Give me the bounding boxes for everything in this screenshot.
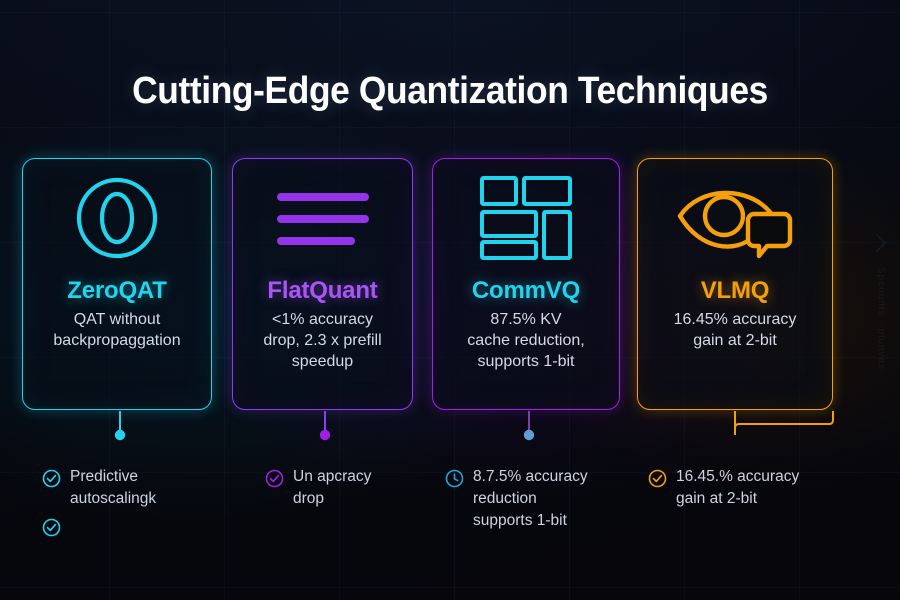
edge-watermark: Spcounts · plunvas (868, 232, 894, 397)
checklist-item-predictive[interactable]: Predictive autoscalingk (42, 466, 217, 510)
connector-node-zeroqat (115, 430, 125, 440)
connector-node-flatquant (320, 430, 330, 440)
checklist-label: Un apcracy drop (293, 466, 371, 510)
check-circle-icon (648, 469, 667, 510)
connector-node-commvq (524, 430, 534, 440)
checklist-item-vlmq-gain[interactable]: 16.45.% accuracy gain at 2-bit (648, 466, 838, 510)
check-circle-icon (265, 469, 284, 510)
chevron-right-icon (873, 232, 889, 259)
checklist-label: Predictive autoscalingk (70, 466, 156, 510)
clock-circle-icon (445, 469, 464, 532)
checklist-item-kv-reduction[interactable]: 8.7.5% accuracy reduction supports 1-bit (445, 466, 625, 532)
check-circle-icon (42, 518, 61, 542)
checklist-label: 16.45.% accuracy gain at 2-bit (676, 466, 799, 510)
edge-watermark-label: Spcounts · plunvas (876, 267, 887, 370)
checklist-item-accuracy-drop[interactable]: Un apcracy drop (265, 466, 425, 510)
connector-elbow-vlmq (735, 411, 833, 435)
checklist-item-orphan[interactable] (42, 515, 82, 542)
check-circle-icon (42, 469, 61, 510)
checklist-label: 8.7.5% accuracy reduction supports 1-bit (473, 466, 588, 532)
